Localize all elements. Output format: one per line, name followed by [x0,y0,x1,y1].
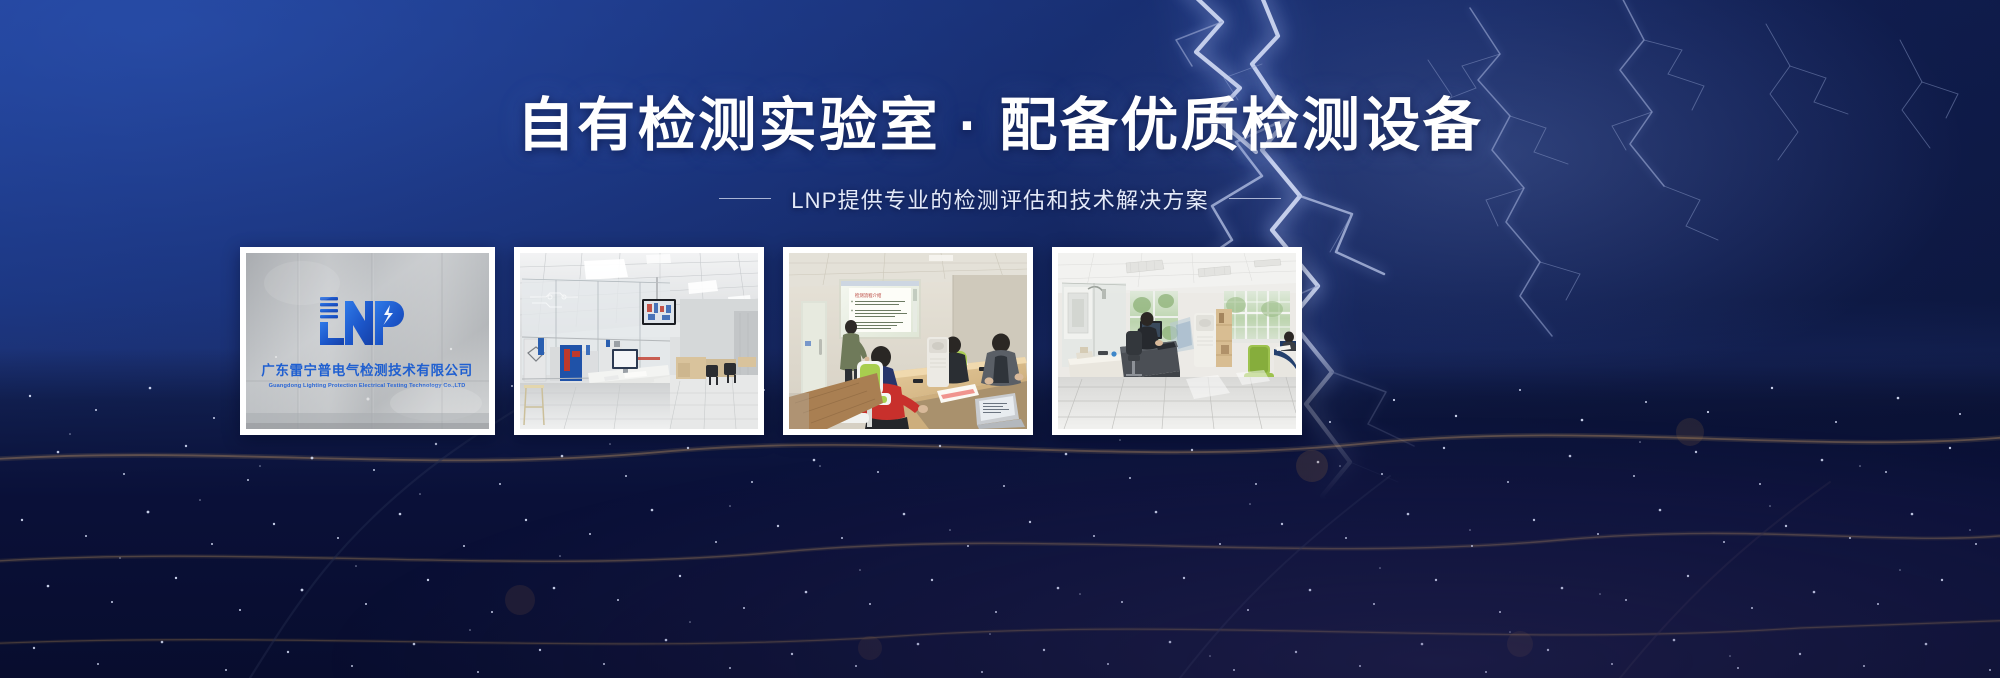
photo-open-office [1058,253,1296,429]
photo-hv-test-laboratory [520,253,758,429]
photo-frame-company-signage[interactable]: 广东雷宁普电气检测技术有限公司 Guangdong Lighting Prote… [240,247,495,435]
photo-frame-open-office[interactable] [1052,247,1302,435]
page-title: 自有检测实验室 · 配备优质检测设备 [0,96,2000,157]
page-subtitle: LNP提供专业的检测评估和技术解决方案 [791,183,1209,215]
hero-copy: 自有检测实验室 · 配备优质检测设备 LNP提供专业的检测评估和技术解决方案 [0,96,2000,215]
rule-right-decoration [1229,198,1281,199]
subtitle-row: LNP提供专业的检测评估和技术解决方案 [0,183,2000,215]
svg-text:广东雷宁普电气检测技术有限公司: 广东雷宁普电气检测技术有限公司 [261,362,473,378]
photo-frame-training-meeting-room[interactable]: 检测流程介绍 [783,247,1033,435]
banner-hero: 自有检测实验室 · 配备优质检测设备 LNP提供专业的检测评估和技术解决方案 [0,0,2000,678]
rule-left-decoration [719,198,771,199]
photo-frame-hv-laboratory[interactable] [514,247,764,435]
photo-training-meeting-room: 检测流程介绍 [789,253,1027,429]
photo-gallery: 广东雷宁普电气检测技术有限公司 Guangdong Lighting Prote… [240,247,1760,435]
photo-company-signage: 广东雷宁普电气检测技术有限公司 Guangdong Lighting Prote… [246,253,489,429]
svg-text:检测流程介绍: 检测流程介绍 [855,292,882,299]
